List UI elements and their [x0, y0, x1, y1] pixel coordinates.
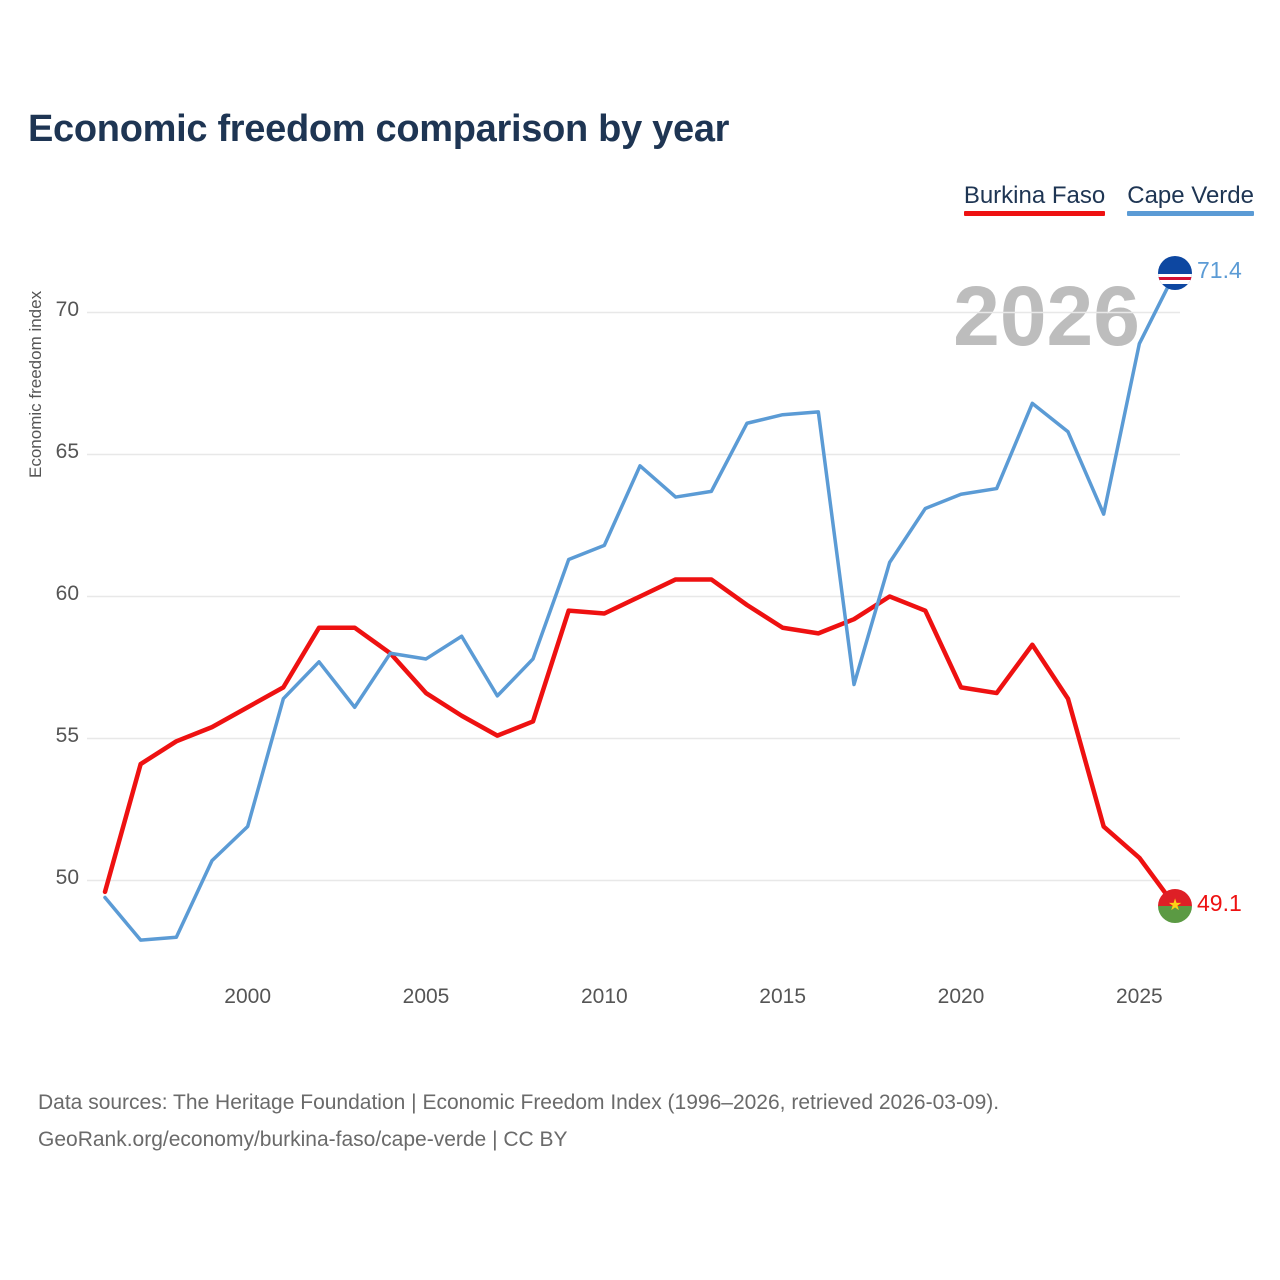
burkina-faso-flag-icon: ★: [1158, 889, 1192, 923]
y-tick-label: 70: [25, 298, 79, 322]
y-tick-label: 55: [25, 724, 79, 748]
y-tick-label: 50: [25, 866, 79, 890]
flag-field: [1158, 256, 1192, 290]
flag-star: ★: [1168, 898, 1182, 914]
cape-verde-flag-icon: [1158, 256, 1192, 290]
x-tick-label: 2025: [1116, 985, 1163, 1009]
burkina-faso-end-value: 49.1: [1197, 890, 1242, 917]
x-tick-label: 2020: [938, 985, 985, 1009]
x-tick-label: 2010: [581, 985, 628, 1009]
x-tick-label: 2000: [224, 985, 271, 1009]
footer-sources: Data sources: The Heritage Foundation | …: [38, 1085, 999, 1159]
gridlines: [87, 312, 1180, 880]
x-tick-label: 2015: [759, 985, 806, 1009]
series-lines: [105, 273, 1175, 940]
chart-page: Economic freedom comparison by year Burk…: [0, 0, 1280, 1280]
y-tick-label: 60: [25, 582, 79, 606]
cape-verde-end-value: 71.4: [1197, 257, 1242, 284]
y-tick-label: 65: [25, 440, 79, 464]
footer-line-1: Data sources: The Heritage Foundation | …: [38, 1085, 999, 1122]
footer-line-2: GeoRank.org/economy/burkina-faso/cape-ve…: [38, 1122, 999, 1159]
series-line-cape-verde: [105, 273, 1175, 940]
x-tick-label: 2005: [403, 985, 450, 1009]
series-line-burkina-faso: [105, 579, 1175, 906]
flag-stripe-white-lower: [1158, 280, 1192, 284]
